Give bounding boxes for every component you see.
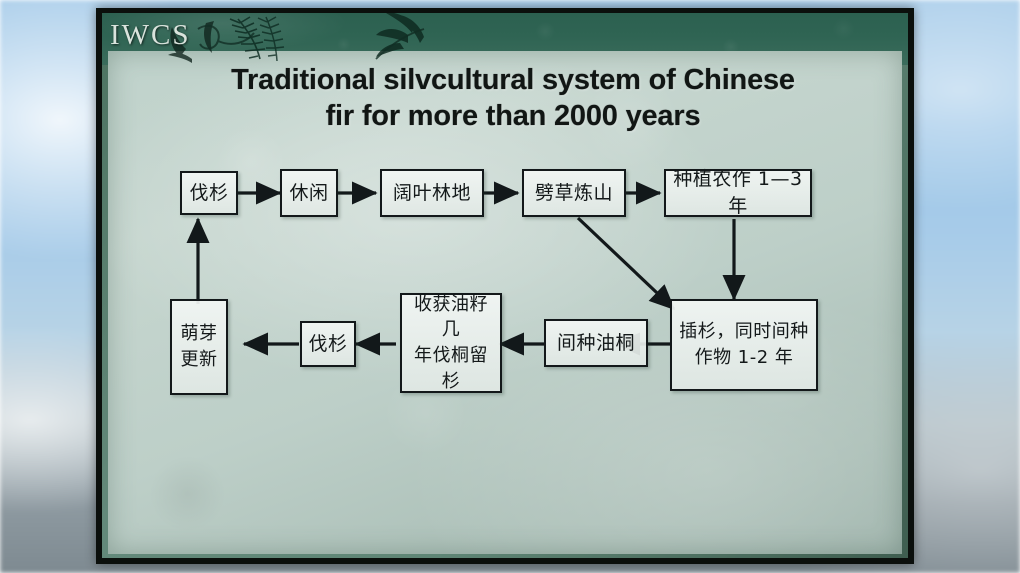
page-title: Traditional silvcultural system of Chine…: [148, 63, 878, 135]
node-label: 阔叶林地: [393, 180, 471, 207]
flowchart-node-n5[interactable]: 种植农作 1—3 年: [664, 169, 812, 217]
flowchart-node-n3[interactable]: 阔叶林地: [380, 169, 484, 217]
node-label-line-2: 作物 1-2 年: [695, 345, 794, 371]
node-label: 休闲: [289, 180, 328, 207]
flowchart-node-n8[interactable]: 收获油籽几 年伐桐留杉: [400, 293, 502, 393]
node-label-line-1: 萌芽: [181, 321, 218, 347]
flowchart-node-n7[interactable]: 间种油桐: [544, 319, 648, 367]
slide-canvas: IWCS: [102, 13, 908, 558]
flowchart-node-n4[interactable]: 劈草炼山: [522, 169, 626, 217]
node-label-line-2: 更新: [181, 347, 218, 373]
flowchart-node-n10[interactable]: 萌芽 更新: [170, 299, 228, 395]
edge-n4-n6-diagonal: [578, 218, 674, 309]
title-line-1: Traditional silvcultural system of Chine…: [148, 63, 878, 99]
flowchart-node-n6[interactable]: 插杉，同时间种 作物 1-2 年: [670, 299, 818, 391]
node-label: 伐杉: [189, 180, 228, 207]
node-label: 种植农作 1—3 年: [670, 166, 806, 220]
node-label: 劈草炼山: [535, 180, 613, 207]
node-label: 间种油桐: [557, 330, 635, 357]
node-label-line-2: 年伐桐留杉: [406, 343, 496, 394]
flowchart-node-n2[interactable]: 休闲: [280, 169, 338, 217]
flowchart-node-n9[interactable]: 伐杉: [300, 321, 356, 367]
presentation-slide-frame: IWCS: [96, 8, 914, 564]
flowchart-node-n1[interactable]: 伐杉: [180, 171, 238, 215]
node-label-line-1: 插杉，同时间种: [679, 319, 809, 345]
slide-body: Traditional silvcultural system of Chine…: [108, 51, 902, 554]
node-label-line-1: 收获油籽几: [406, 292, 496, 343]
node-label: 伐杉: [308, 331, 347, 358]
iwcs-logo: IWCS: [110, 19, 191, 52]
title-line-2: fir for more than 2000 years: [148, 99, 878, 135]
